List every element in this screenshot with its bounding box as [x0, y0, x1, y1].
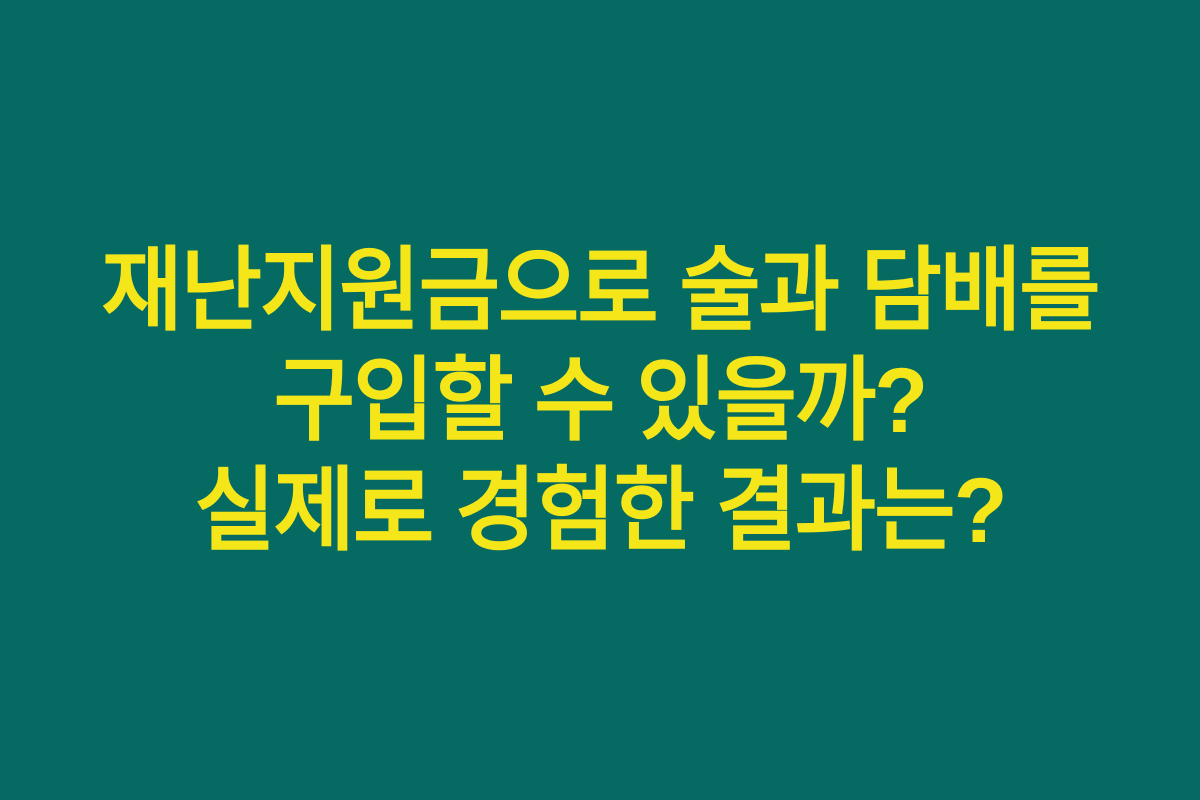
headline-line-2: 구입할 수 있을까?: [43, 346, 1157, 456]
thumbnail-canvas: 재난지원금으로 술과 담배를 구입할 수 있을까? 실제로 경험한 결과는?: [0, 0, 1200, 800]
headline-line-1: 재난지원금으로 술과 담배를: [43, 236, 1157, 346]
headline-line-3: 실제로 경험한 결과는?: [43, 456, 1157, 566]
headline-text-block: 재난지원금으로 술과 담배를 구입할 수 있을까? 실제로 경험한 결과는?: [0, 236, 1200, 566]
